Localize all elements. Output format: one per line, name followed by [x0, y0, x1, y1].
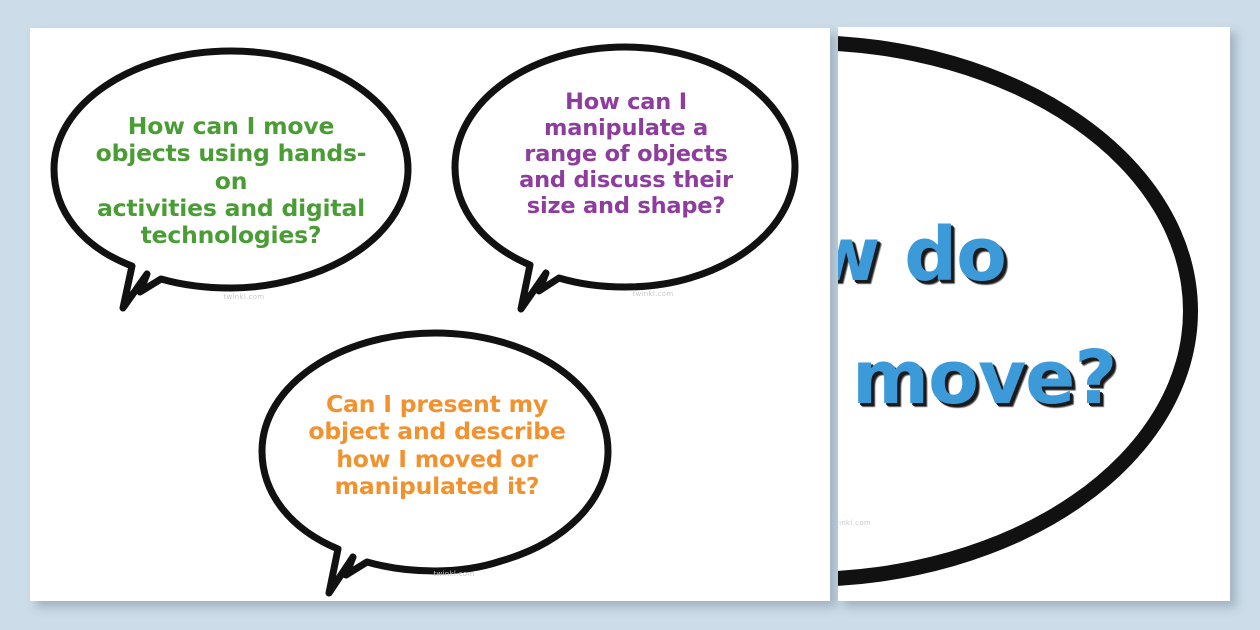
speech-bubble-purple-text: How can I manipulate a range of objects … — [507, 89, 745, 219]
watermark-green: twinkl.com — [184, 293, 304, 301]
poster-title-line-1: w do — [838, 212, 1006, 298]
speech-bubble-orange-text: Can I present my object and describe how… — [305, 391, 569, 500]
watermark-right-page: twinkl.com — [838, 519, 950, 527]
right-page: w do move? twinkl.com — [838, 27, 1230, 601]
watermark-orange: twinkl.com — [394, 570, 514, 578]
speech-bubble-green[interactable]: How can I move objects using hands-on ac… — [44, 41, 418, 319]
speech-bubble-orange[interactable]: Can I present my object and describe how… — [252, 323, 618, 601]
large-speech-bubble-outline — [838, 35, 1198, 587]
speech-bubble-purple[interactable]: How can I manipulate a range of objects … — [445, 37, 805, 319]
speech-bubble-green-text: How can I move objects using hands-on ac… — [88, 113, 374, 249]
left-page: How can I move objects using hands-on ac… — [30, 28, 830, 601]
watermark-purple: twinkl.com — [593, 290, 713, 298]
poster-title-line-2: move? — [852, 335, 1116, 421]
